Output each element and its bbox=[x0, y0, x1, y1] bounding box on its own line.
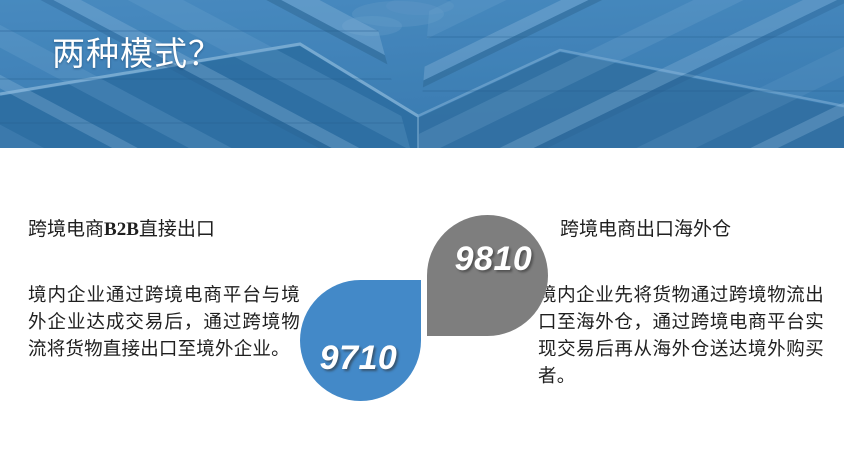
page-title: 两种模式？ bbox=[52, 36, 222, 76]
left-heading-emphasis: B2B bbox=[104, 219, 139, 240]
teardrop-shape-9710[interactable]: 9710 bbox=[300, 280, 421, 401]
left-column-body: 境内企业通过跨境电商平台与境外企业达成交易后，通过跨境物流将货物直接出口至境外企… bbox=[28, 283, 300, 364]
column-left: 跨境电商B2B直接出口 境内企业通过跨境电商平台与境外企业达成交易后，通过跨境物… bbox=[28, 148, 300, 364]
diagram-shapes: 9710 9810 bbox=[298, 180, 552, 474]
right-column-heading: 跨境电商出口海外仓 bbox=[538, 218, 824, 243]
header-banner: 两种模式？ bbox=[0, 0, 844, 148]
content-area: 跨境电商B2B直接出口 境内企业通过跨境电商平台与境外企业达成交易后，通过跨境物… bbox=[0, 148, 844, 474]
teardrop-label-9710: 9710 bbox=[320, 339, 398, 378]
teardrop-label-9810: 9810 bbox=[455, 240, 533, 279]
teardrop-shape-9810[interactable]: 9810 bbox=[427, 215, 548, 336]
right-column-body: 境内企业先将货物通过跨境物流出口至海外仓，通过跨境电商平台实现交易后再从海外仓送… bbox=[538, 283, 824, 391]
slide-canvas: 两种模式？ 跨境电商B2B直接出口 境内企业通过跨境电商平台与境外企业达成交易后… bbox=[0, 0, 844, 474]
left-heading-suffix: 直接出口 bbox=[139, 219, 215, 240]
left-column-heading: 跨境电商B2B直接出口 bbox=[28, 218, 300, 243]
column-right: 跨境电商出口海外仓 境内企业先将货物通过跨境物流出口至海外仓，通过跨境电商平台实… bbox=[538, 148, 824, 391]
left-heading-prefix: 跨境电商 bbox=[28, 219, 104, 240]
